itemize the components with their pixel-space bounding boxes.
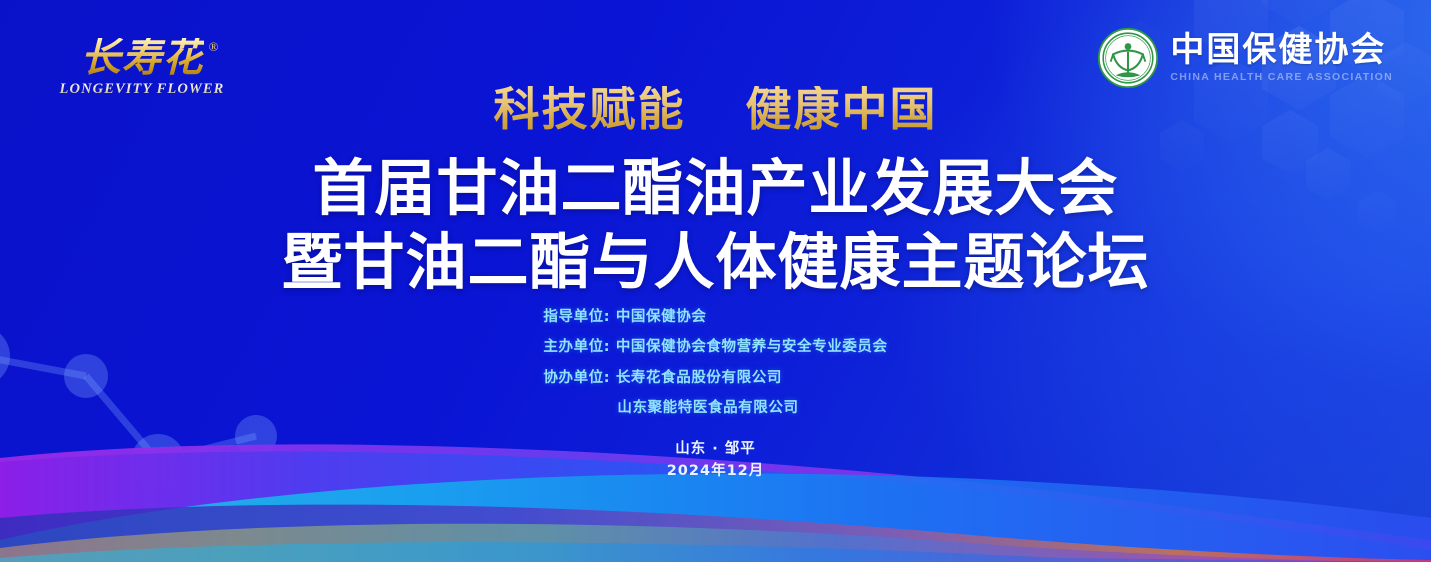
conference-title: 首届甘油二酯油产业发展大会 暨甘油二酯与人体健康主题论坛: [0, 152, 1431, 301]
venue-date: 2024年12月: [0, 460, 1431, 482]
association-name-en: CHINA HEALTH CARE ASSOCIATION: [1170, 71, 1393, 83]
organizer-line-cohost-2: 山东聚能特医食品有限公司: [543, 393, 887, 423]
logo-left-characters: 长寿花: [81, 35, 204, 80]
logo-left-name-cn: 长寿花®: [81, 38, 204, 78]
conference-banner: 长寿花® LONGEVITY FLOWER 中国保健协会 CHINA HEALT…: [0, 0, 1431, 562]
slogan-part1: 科技赋能: [494, 82, 686, 136]
association-name-cn: 中国保健协会: [1170, 33, 1393, 69]
china-health-care-association-logo: 中国保健协会 CHINA HEALTH CARE ASSOCIATION: [1097, 27, 1393, 89]
title-line-1: 首届甘油二酯油产业发展大会: [0, 152, 1431, 226]
association-emblem-icon: [1097, 27, 1159, 89]
venue-location: 山东 · 邹平: [0, 438, 1431, 460]
organizer-block: 指导单位: 中国保健协会 主办单位: 中国保健协会食物营养与安全专业委员会 协办…: [0, 302, 1431, 424]
organizer-line-cohost: 协办单位: 长寿花食品股份有限公司: [543, 363, 887, 393]
organizer-line-host: 主办单位: 中国保健协会食物营养与安全专业委员会: [543, 332, 887, 362]
venue-block: 山东 · 邹平 2024年12月: [0, 438, 1431, 483]
slogan: 科技赋能健康中国: [0, 86, 1431, 132]
registered-trademark-icon: ®: [209, 40, 220, 53]
organizer-line-guidance: 指导单位: 中国保健协会: [543, 302, 887, 332]
slogan-part2: 健康中国: [746, 82, 938, 136]
title-line-2: 暨甘油二酯与人体健康主题论坛: [0, 226, 1431, 300]
